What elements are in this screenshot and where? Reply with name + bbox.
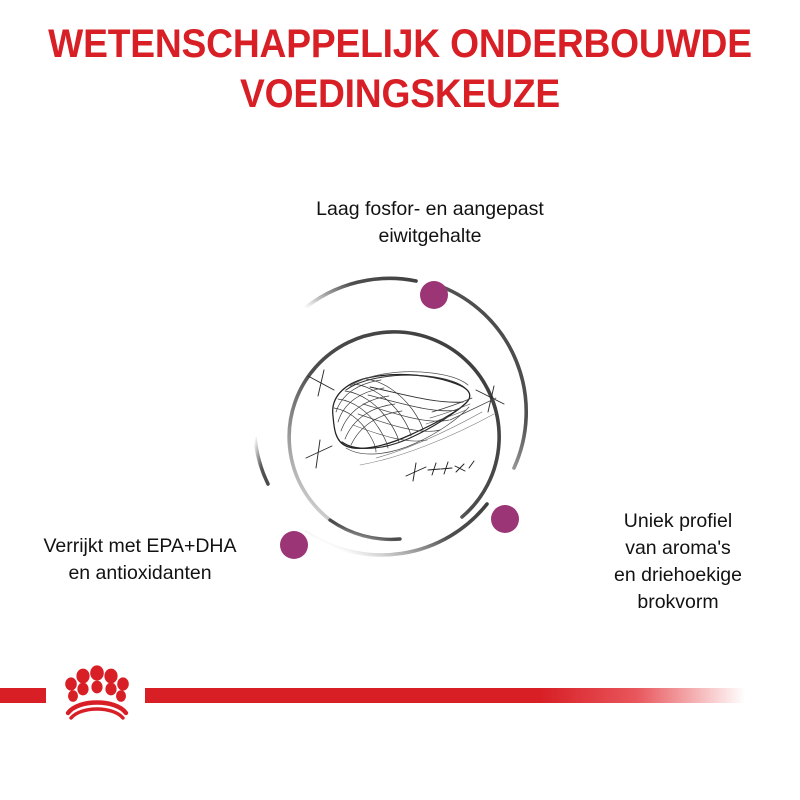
scientific-nutrition-diagram bbox=[250, 262, 550, 562]
crown-icon bbox=[52, 658, 142, 722]
node-top[interactable] bbox=[420, 281, 448, 309]
handwritten-annotation bbox=[406, 461, 474, 481]
brand-bar-left-segment bbox=[0, 688, 46, 703]
outer-ring-arc bbox=[255, 278, 526, 555]
kibble-technical-sketch bbox=[306, 370, 504, 481]
royal-canin-crown-logo bbox=[52, 658, 142, 722]
callout-aroma-brokvorm: Uniek profiel van aroma's en driehoekige… bbox=[556, 508, 800, 616]
callout-epa-dha: Verrijkt met EPA+DHA en antioxidanten bbox=[0, 533, 280, 587]
brand-bar-right-segment bbox=[145, 688, 745, 703]
footer-brand-bar bbox=[0, 680, 800, 800]
page-root: WETENSCHAPPELIJK ONDERBOUWDE VOEDINGSKEU… bbox=[0, 0, 800, 800]
node-bottom-right[interactable] bbox=[491, 505, 519, 533]
node-bottom-left[interactable] bbox=[280, 531, 308, 559]
callout-laag-fosfor: Laag fosfor- en aangepast eiwitgehalte bbox=[230, 196, 630, 250]
inner-ring-arc bbox=[289, 332, 499, 540]
page-title: WETENSCHAPPELIJK ONDERBOUWDE VOEDINGSKEU… bbox=[28, 20, 772, 119]
diagram-svg bbox=[250, 262, 550, 562]
